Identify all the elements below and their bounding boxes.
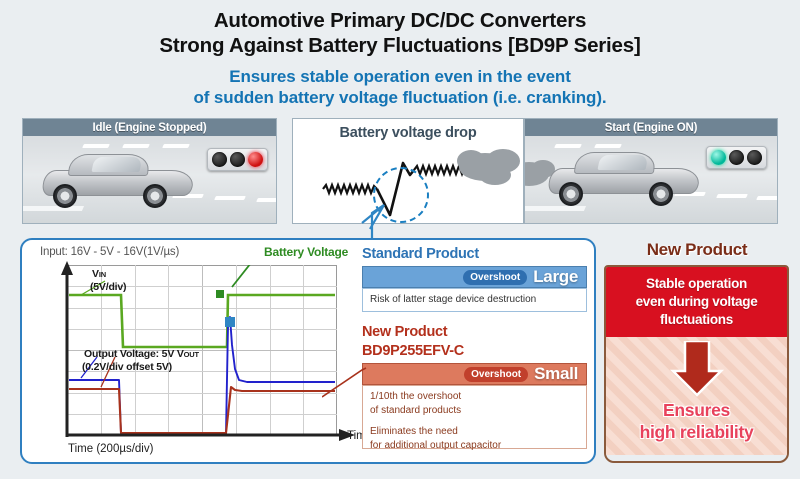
traffic-light-start — [706, 146, 767, 169]
page-title: Automotive Primary DC/DC Converters Stro… — [0, 8, 800, 58]
standard-overshoot-pill: Overshoot — [463, 270, 527, 285]
traffic-lamp-1-icon — [711, 150, 726, 165]
exhaust-cloud-icon — [457, 141, 527, 193]
np-top-line2: even during voltage — [610, 293, 783, 311]
panel-battery-drop: Battery voltage drop — [292, 118, 524, 224]
new-desc-line2: of standard products — [370, 404, 579, 418]
new-overshoot-pill: Overshoot — [464, 367, 528, 382]
voltage-drop-highlight-circle — [373, 167, 429, 223]
traffic-lamp-2-icon — [230, 152, 245, 167]
oscilloscope-card: Input: 16V - 5V - 16V(1V/µs) Battery Vol… — [20, 238, 596, 464]
new-product-panel: Stable operation even during voltage flu… — [604, 265, 789, 463]
panel-start: Start (Engine ON) — [524, 118, 778, 224]
new-product-callout-title-line1: New Product — [362, 324, 447, 340]
new-desc-line1: 1/10th the overshoot — [370, 390, 579, 404]
time-div-label: Time (200µs/div) — [68, 443, 153, 455]
down-arrow-icon — [667, 341, 727, 397]
new-product-leader-line — [322, 364, 382, 404]
np-top-line3: fluctuations — [610, 311, 783, 329]
standard-product-title: Standard Product — [362, 246, 479, 262]
traffic-lamp-3-icon — [248, 152, 263, 167]
y-axis-arrow-icon — [58, 259, 78, 439]
page-subtitle: Ensures stable operation even in the eve… — [0, 66, 800, 108]
title-line-1: Automotive Primary DC/DC Converters — [0, 8, 800, 33]
battery-voltage-legend-label: Battery Voltage — [264, 245, 348, 259]
new-product-panel-ensures: Ensures high reliability — [606, 399, 787, 443]
new-product-panel-title: New Product — [612, 240, 782, 260]
new-product-panel-top: Stable operation even during voltage flu… — [606, 267, 787, 337]
trace-standard-product — [69, 317, 335, 433]
vout-label-line2: (0.2V/div offset 5V) — [82, 361, 172, 373]
panel-idle: Idle (Engine Stopped) — [22, 118, 277, 224]
np-bot-line1: Ensures — [606, 399, 787, 421]
new-product-callout-title-line2: BD9P255EFV-C — [362, 343, 464, 359]
standard-product-description: Risk of latter stage device destruction — [362, 288, 587, 312]
panel-start-header: Start (Engine ON) — [525, 119, 777, 136]
standard-overshoot-value: Large — [533, 267, 578, 287]
vout-label-line1: Output Voltage: 5V VOUT — [84, 348, 199, 360]
scope-input-note: Input: 16V - 5V - 16V(1V/µs) — [40, 246, 179, 258]
battery-drop-title: Battery voltage drop — [293, 125, 523, 141]
vin-div-label: (5V/div) — [90, 281, 126, 293]
new-product-description: 1/10th the overshoot of standard product… — [362, 385, 587, 449]
np-top-line1: Stable operation — [610, 275, 783, 293]
subtitle-line-2: of sudden battery voltage fluctuation (i… — [0, 87, 800, 108]
new-overshoot-bar: Overshoot Small — [362, 363, 587, 385]
road-scene-start — [525, 136, 777, 223]
traffic-light-idle — [207, 148, 268, 171]
new-product-panel-bottom: Ensures high reliability — [606, 337, 787, 455]
vin-label: VIN — [92, 268, 106, 280]
new-overshoot-value: Small — [534, 364, 578, 384]
title-line-2: Strong Against Battery Fluctuations [BD9… — [0, 33, 800, 58]
road-scene-idle — [23, 136, 276, 223]
car-illustration-start — [549, 150, 704, 202]
panel-idle-header: Idle (Engine Stopped) — [23, 119, 276, 136]
new-desc-line3: Eliminates the need — [370, 425, 579, 439]
standard-overshoot-bar: Overshoot Large — [362, 266, 587, 288]
new-desc-line4: for additional output capacitor — [370, 439, 579, 453]
subtitle-line-1: Ensures stable operation even in the eve… — [0, 66, 800, 87]
traffic-lamp-3-icon — [747, 150, 762, 165]
car-illustration-idle — [43, 152, 198, 204]
trace-new-product — [69, 387, 335, 433]
traffic-lamp-2-icon — [729, 150, 744, 165]
traffic-lamp-1-icon — [212, 152, 227, 167]
np-bot-line2: high reliability — [606, 421, 787, 443]
trace-battery-voltage — [69, 295, 335, 347]
